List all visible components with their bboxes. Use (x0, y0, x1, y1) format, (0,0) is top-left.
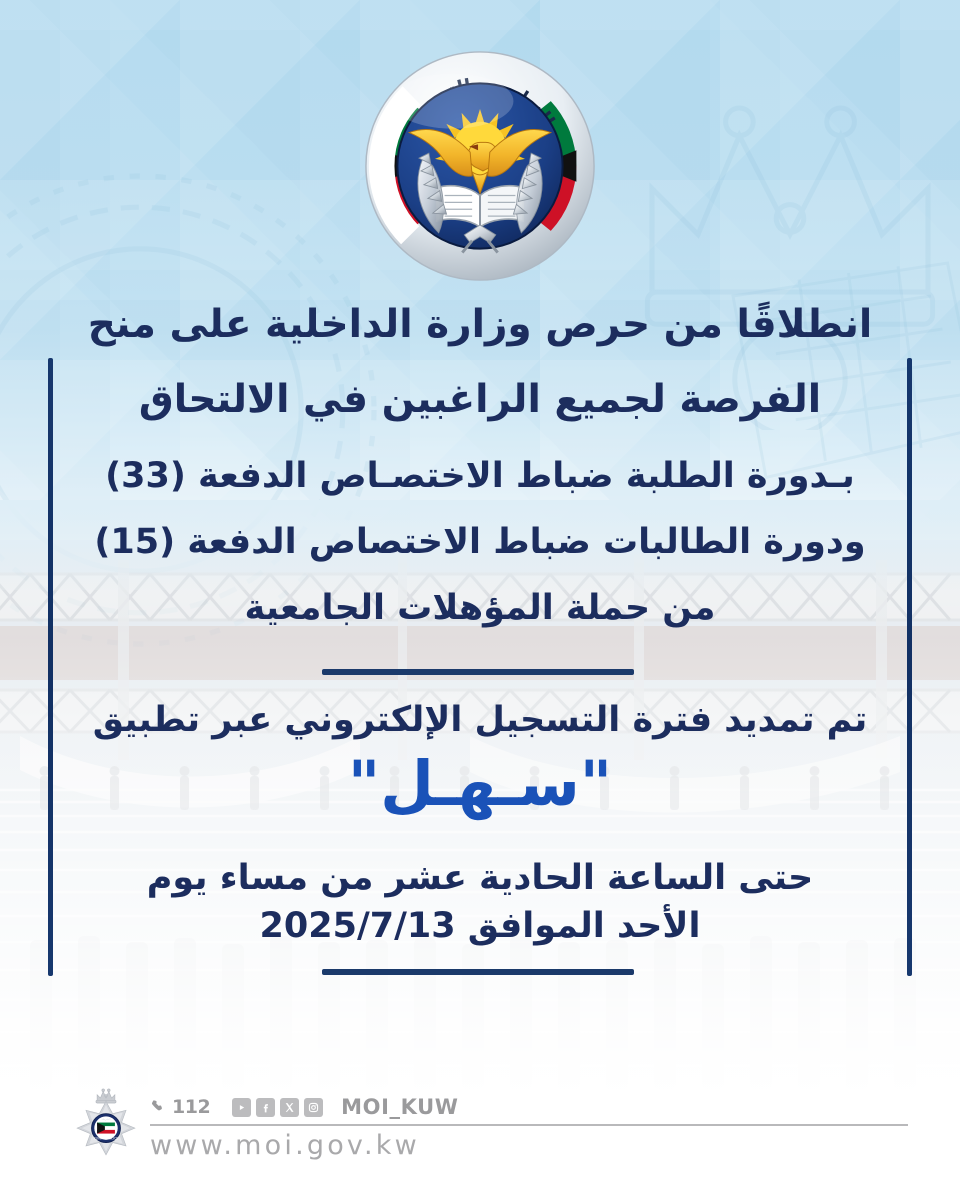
footer-contact-row: 112 (150, 1092, 908, 1122)
education-and-training-emblem: التعليم و التدريب (362, 48, 598, 284)
deadline-time-text: حتى الساعة الحادية عشر من مساء يوم (60, 858, 900, 898)
instagram-icon[interactable] (304, 1098, 323, 1117)
footer: الشرطة KUWAIT POLICE 112 (0, 1080, 960, 1200)
poster-canvas: التعليم و التدريب (0, 0, 960, 1200)
app-name-sahel: "سـهـل" (60, 750, 900, 818)
deadline-date-value: 2025/7/13 (260, 906, 456, 946)
svg-text:الشرطة: الشرطة (101, 1117, 111, 1121)
facebook-icon[interactable] (256, 1098, 275, 1117)
youtube-icon[interactable] (232, 1098, 251, 1117)
emergency-phone-number: 112 (172, 1096, 210, 1118)
footer-divider (150, 1124, 908, 1126)
deadline-date-prefix: الأحد الموافق (468, 906, 701, 946)
body-line-1: انطلاقًا من حرص وزارة الداخلية على منح (60, 300, 900, 349)
body-line-2: الفرصة لجميع الراغبين في الالتحاق (60, 375, 900, 424)
body-line-4: ودورة الطالبات ضباط الاختصاص الدفعة (15) (60, 520, 900, 564)
announcement-body: انطلاقًا من حرص وزارة الداخلية على منح ا… (60, 300, 900, 637)
body-line-5: من حملة المؤهلات الجامعية (60, 586, 900, 630)
social-icons-group (232, 1098, 323, 1117)
website-url[interactable]: www.moi.gov.kw (150, 1130, 908, 1161)
divider-top (322, 669, 634, 675)
deadline-date-line: الأحد الموافق 2025/7/13 (60, 906, 900, 946)
badge-caption: KUWAIT POLICE (94, 1136, 118, 1140)
left-vertical-rule (48, 358, 53, 976)
right-vertical-rule (907, 358, 912, 976)
registration-extension-text: تم تمديد فترة التسجيل الإلكتروني عبر تطب… (60, 700, 900, 740)
kuwait-police-badge: الشرطة KUWAIT POLICE (72, 1088, 140, 1166)
phone-icon (150, 1099, 166, 1115)
registration-section: تم تمديد فترة التسجيل الإلكتروني عبر تطب… (60, 700, 900, 818)
divider-bottom (322, 969, 634, 975)
social-handle: MOI_KUW (341, 1095, 458, 1119)
deadline-section: حتى الساعة الحادية عشر من مساء يوم الأحد… (60, 858, 900, 946)
footer-contact-block: 112 (150, 1092, 908, 1161)
body-line-3: بـدورة الطلبة ضباط الاختصـاص الدفعة (33) (60, 454, 900, 498)
x-twitter-icon[interactable] (280, 1098, 299, 1117)
